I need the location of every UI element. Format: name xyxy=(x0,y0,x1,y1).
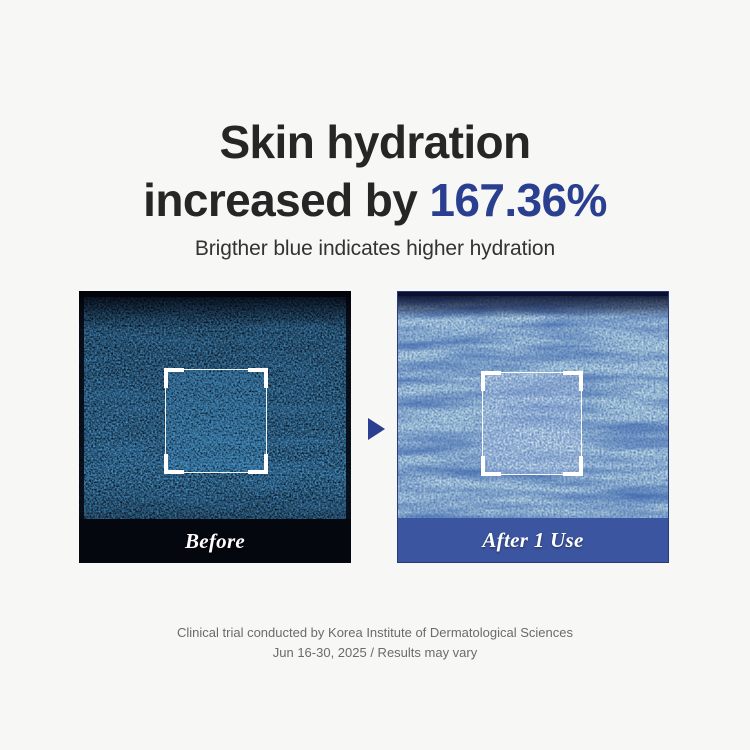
after-label-band: After 1 Use xyxy=(398,518,668,562)
headline-line-1: Skin hydration xyxy=(0,113,750,171)
after-selection-box xyxy=(482,372,582,475)
arrow-right-icon xyxy=(366,417,386,441)
before-label: Before xyxy=(185,529,245,554)
promo-canvas: Skin hydration increased by 167.36% Brig… xyxy=(0,0,750,750)
corner-bracket-bottom-left-icon xyxy=(481,456,501,476)
headline-prefix: increased by xyxy=(143,174,429,226)
footnote: Clinical trial conducted by Korea Instit… xyxy=(0,623,750,663)
corner-bracket-top-left-icon xyxy=(481,371,501,391)
page-title: Skin hydration increased by 167.36% xyxy=(0,113,750,229)
before-label-band: Before xyxy=(79,519,351,563)
corner-bracket-top-left-icon xyxy=(164,368,184,388)
corner-bracket-bottom-right-icon xyxy=(563,456,583,476)
headline-line-2: increased by 167.36% xyxy=(0,171,750,229)
corner-bracket-bottom-right-icon xyxy=(248,454,268,474)
corner-bracket-top-right-icon xyxy=(248,368,268,388)
footnote-line-2: Jun 16-30, 2025 / Results may vary xyxy=(0,643,750,663)
corner-bracket-bottom-left-icon xyxy=(164,454,184,474)
after-image-panel: After 1 Use xyxy=(397,291,669,563)
before-selection-box xyxy=(165,369,267,473)
before-image-panel: Before xyxy=(79,291,351,563)
corner-bracket-top-right-icon xyxy=(563,371,583,391)
subtitle: Brigther blue indicates higher hydration xyxy=(0,237,750,261)
hydration-percentage: 167.36% xyxy=(429,174,606,226)
after-label: After 1 Use xyxy=(482,528,583,553)
footnote-line-1: Clinical trial conducted by Korea Instit… xyxy=(0,623,750,643)
